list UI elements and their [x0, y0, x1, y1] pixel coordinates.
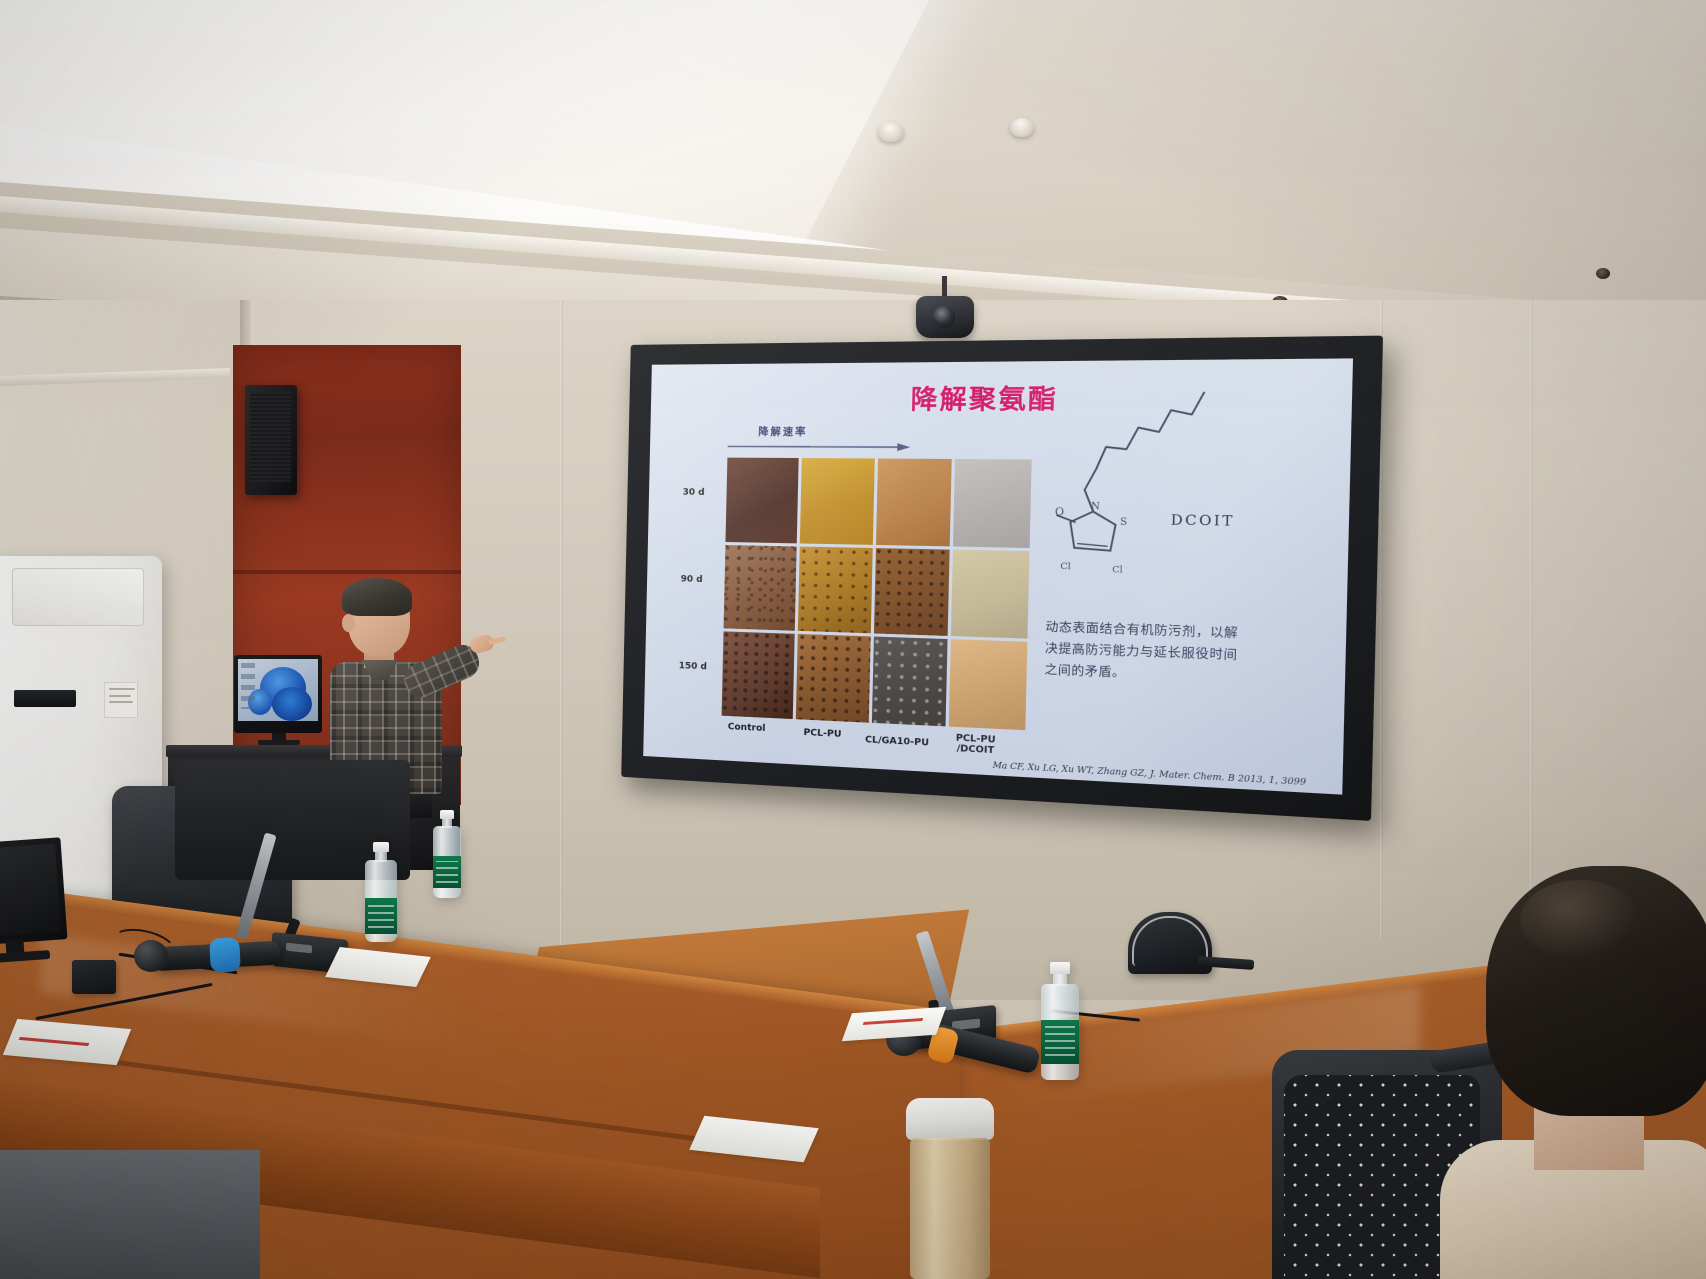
slide-body-text: 动态表面结合有机防污剂，以解 决提高防污能力与延长服役时间 之间的矛盾。: [1044, 616, 1295, 691]
microphone-head-icon: [134, 940, 168, 972]
preview-monitor-ui-icons: [241, 663, 255, 709]
air-conditioner-display: [14, 690, 76, 707]
bottle-cap: [440, 810, 454, 819]
tea-jar-lid[interactable]: [906, 1098, 994, 1140]
monitor-base: [258, 740, 300, 745]
sample-swatch: [871, 637, 947, 727]
sample-swatch: [873, 548, 949, 637]
degradation-rate-arrow-icon: [728, 441, 911, 452]
row-label-90d: 90 d: [681, 574, 703, 585]
projection-screen-surface: 降解聚氨酯 降解速率 30 d 90 d 150 d: [643, 358, 1353, 794]
sample-swatch: [796, 634, 871, 722]
bottle-cap: [1050, 962, 1070, 974]
water-bottle[interactable]: [432, 810, 462, 898]
water-bottle[interactable]: [364, 842, 398, 942]
presenter-ear: [342, 614, 355, 632]
smoke-detector-icon: [1010, 118, 1034, 137]
degradation-rate-label: 降解速率: [758, 423, 808, 438]
sample-swatch: [724, 545, 797, 631]
slide-content: 降解聚氨酯 降解速率 30 d 90 d 150 d: [643, 358, 1353, 794]
camera-lens-icon: [933, 306, 955, 328]
attendee-hair-highlight: [1520, 880, 1640, 960]
conference-room-photo: 降解聚氨酯 降解速率 30 d 90 d 150 d: [0, 0, 1706, 1279]
preview-monitor-screen: [238, 659, 318, 721]
degradation-sample-grid: [722, 458, 1032, 731]
tea-jar[interactable]: [904, 1098, 996, 1279]
sample-swatch: [953, 459, 1031, 548]
smoke-detector-icon: [878, 122, 904, 142]
bottle-label-text: [1045, 1026, 1075, 1056]
column-label-pclpu: PCL-PU: [790, 727, 855, 741]
sample-swatch: [875, 459, 952, 547]
sample-swatch: [800, 458, 875, 544]
wood-panel-seam: [233, 570, 461, 574]
column-label-pclpu-dcoit: PCL-PU /DCOIT: [939, 732, 1011, 758]
column-label-clga10pu: CL/GA10-PU: [855, 734, 940, 749]
sample-swatch: [949, 640, 1027, 731]
air-conditioner-vent-icon: [12, 568, 144, 626]
column-label-line2: /DCOIT: [956, 744, 994, 757]
downlight: [1596, 268, 1610, 279]
sample-swatch: [722, 632, 795, 719]
desktop-monitor-screen: [0, 844, 61, 937]
atom-label-S: S: [1120, 517, 1127, 528]
bottle-label-text: [368, 904, 394, 928]
atom-label-N: N: [1091, 502, 1100, 513]
power-adapter: [72, 960, 116, 994]
wall-panel-seam: [1530, 300, 1533, 900]
atom-label-O: O: [1055, 507, 1064, 519]
projection-screen[interactable]: 降解聚氨酯 降解速率 30 d 90 d 150 d: [621, 336, 1383, 821]
bottle-cap: [373, 842, 389, 852]
slide-citation: Ma CF, Xu LG, Xu WT, Zhang GZ, J. Mater.…: [888, 754, 1306, 787]
atom-label-Cl-left: Cl: [1060, 560, 1071, 571]
sample-swatch: [725, 458, 798, 543]
bottle-label-text: [436, 861, 458, 883]
tea-jar-body: [910, 1138, 990, 1279]
dcoit-molecule-diagram: O N S Cl Cl: [1053, 386, 1265, 596]
sample-swatch: [951, 549, 1029, 639]
row-label-150d: 150 d: [679, 661, 707, 672]
presenter-hair: [342, 578, 412, 616]
column-label-control: Control: [715, 721, 778, 735]
floor: [0, 1150, 260, 1279]
speaker-grill-icon: [250, 392, 291, 482]
dcoit-label: DCOIT: [1171, 513, 1235, 530]
air-conditioner-label-sticker: [104, 682, 138, 718]
water-bottle[interactable]: [1040, 962, 1080, 1080]
sample-swatch: [798, 546, 873, 633]
wall-panel-seam: [560, 300, 563, 1000]
atom-label-Cl-right: Cl: [1112, 564, 1123, 575]
microphone-foam-ring: [209, 937, 241, 973]
row-label-30d: 30 d: [682, 488, 704, 498]
